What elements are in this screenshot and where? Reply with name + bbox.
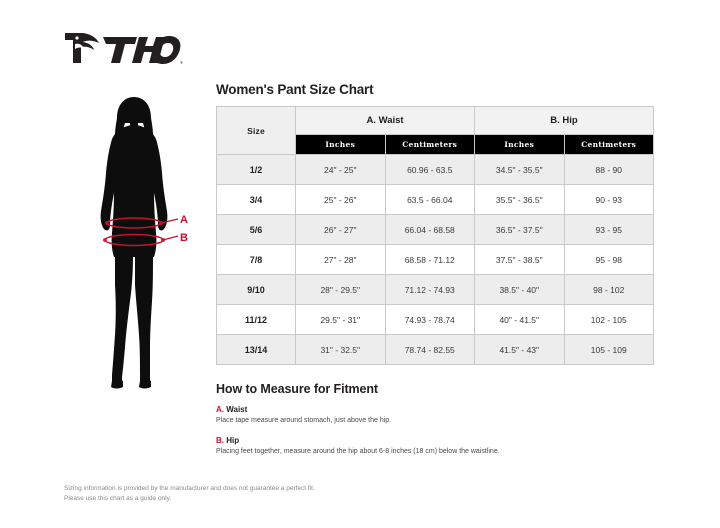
cell-hip-inches: 40" - 41.5" bbox=[475, 305, 565, 335]
cell-size: 13/14 bbox=[217, 335, 296, 365]
measure-instruction-waist: A. Waist Place tape measure around stoma… bbox=[216, 405, 654, 425]
cell-hip-inches: 34.5" - 35.5" bbox=[475, 155, 565, 185]
cell-size: 11/12 bbox=[217, 305, 296, 335]
measure-name-waist: Waist bbox=[226, 405, 247, 414]
table-row: 7/8 27" - 28" 68.58 - 71.12 37.5" - 38.5… bbox=[217, 245, 654, 275]
figure-label-b: B bbox=[180, 232, 188, 244]
cell-size: 1/2 bbox=[217, 155, 296, 185]
cell-hip-centimeters: 93 - 95 bbox=[564, 215, 654, 245]
measure-letter-a: A. bbox=[216, 405, 224, 414]
cell-waist-inches: 29.5" - 31" bbox=[296, 305, 386, 335]
table-header: Size A. Waist B. Hip Inches Centimeters … bbox=[217, 107, 654, 155]
column-group-waist: A. Waist bbox=[296, 107, 475, 135]
measure-description-hip: Placing feet together, measure around th… bbox=[216, 447, 654, 456]
svg-text:®: ® bbox=[180, 60, 183, 65]
measure-heading-waist: A. Waist bbox=[216, 405, 654, 414]
cell-hip-inches: 37.5" - 38.5" bbox=[475, 245, 565, 275]
cell-hip-centimeters: 95 - 98 bbox=[564, 245, 654, 275]
cell-waist-inches: 27" - 28" bbox=[296, 245, 386, 275]
disclaimer-line-2: Please use this chart as a guide only. bbox=[64, 494, 315, 504]
cell-waist-centimeters: 68.58 - 71.12 bbox=[385, 245, 475, 275]
table-row: 5/6 26" - 27" 66.04 - 68.58 36.5" - 37.5… bbox=[217, 215, 654, 245]
measure-letter-b: B. bbox=[216, 436, 224, 445]
cell-waist-inches: 24" - 25" bbox=[296, 155, 386, 185]
thor-logo: ® bbox=[63, 28, 183, 68]
measurement-figure: A B bbox=[70, 95, 200, 395]
cell-hip-centimeters: 90 - 93 bbox=[564, 185, 654, 215]
cell-hip-inches: 41.5" - 43" bbox=[475, 335, 565, 365]
cell-hip-centimeters: 98 - 102 bbox=[564, 275, 654, 305]
figure-label-a: A bbox=[180, 214, 188, 226]
table-row: 1/2 24" - 25" 60.96 - 63.5 34.5" - 35.5"… bbox=[217, 155, 654, 185]
cell-waist-inches: 28" - 29.5" bbox=[296, 275, 386, 305]
how-to-measure-title: How to Measure for Fitment bbox=[216, 382, 654, 396]
cell-waist-centimeters: 63.5 - 66.04 bbox=[385, 185, 475, 215]
measure-name-hip: Hip bbox=[226, 436, 239, 445]
column-header-size: Size bbox=[217, 107, 296, 155]
cell-hip-centimeters: 88 - 90 bbox=[564, 155, 654, 185]
cell-size: 7/8 bbox=[217, 245, 296, 275]
column-header-waist-centimeters: Centimeters bbox=[385, 135, 475, 155]
thor-helmet-icon bbox=[65, 33, 99, 63]
measure-heading-hip: B. Hip bbox=[216, 436, 654, 445]
thor-wordmark-icon bbox=[103, 36, 180, 64]
column-header-waist-inches: Inches bbox=[296, 135, 386, 155]
cell-waist-centimeters: 60.96 - 63.5 bbox=[385, 155, 475, 185]
size-chart-table: Size A. Waist B. Hip Inches Centimeters … bbox=[216, 106, 654, 365]
table-row: 3/4 25" - 26" 63.5 - 66.04 35.5" - 36.5"… bbox=[217, 185, 654, 215]
table-row: 13/14 31" - 32.5" 78.74 - 82.55 41.5" - … bbox=[217, 335, 654, 365]
cell-size: 3/4 bbox=[217, 185, 296, 215]
cell-waist-inches: 31" - 32.5" bbox=[296, 335, 386, 365]
cell-waist-centimeters: 71.12 - 74.93 bbox=[385, 275, 475, 305]
table-body: 1/2 24" - 25" 60.96 - 63.5 34.5" - 35.5"… bbox=[217, 155, 654, 365]
column-header-hip-inches: Inches bbox=[475, 135, 565, 155]
table-row: 9/10 28" - 29.5" 71.12 - 74.93 38.5" - 4… bbox=[217, 275, 654, 305]
cell-hip-inches: 35.5" - 36.5" bbox=[475, 185, 565, 215]
column-group-hip: B. Hip bbox=[475, 107, 654, 135]
cell-size: 5/6 bbox=[217, 215, 296, 245]
cell-waist-centimeters: 66.04 - 68.58 bbox=[385, 215, 475, 245]
cell-hip-centimeters: 105 - 109 bbox=[564, 335, 654, 365]
cell-size: 9/10 bbox=[217, 275, 296, 305]
cell-hip-centimeters: 102 - 105 bbox=[564, 305, 654, 335]
cell-hip-inches: 38.5" - 40" bbox=[475, 275, 565, 305]
disclaimer-line-1: Sizing information is provided by the ma… bbox=[64, 484, 315, 494]
cell-waist-inches: 25" - 26" bbox=[296, 185, 386, 215]
size-chart-content: Women's Pant Size Chart Size A. Waist B.… bbox=[216, 82, 654, 467]
table-row: 11/12 29.5" - 31" 74.93 - 78.74 40" - 41… bbox=[217, 305, 654, 335]
disclaimer: Sizing information is provided by the ma… bbox=[64, 484, 315, 504]
cell-hip-inches: 36.5" - 37.5" bbox=[475, 215, 565, 245]
page-title: Women's Pant Size Chart bbox=[216, 82, 654, 97]
table-header-row-groups: Size A. Waist B. Hip bbox=[217, 107, 654, 135]
cell-waist-centimeters: 78.74 - 82.55 bbox=[385, 335, 475, 365]
cell-waist-inches: 26" - 27" bbox=[296, 215, 386, 245]
column-header-hip-centimeters: Centimeters bbox=[564, 135, 654, 155]
measure-description-waist: Place tape measure around stomach, just … bbox=[216, 416, 654, 425]
measure-instruction-hip: B. Hip Placing feet together, measure ar… bbox=[216, 436, 654, 456]
cell-waist-centimeters: 74.93 - 78.74 bbox=[385, 305, 475, 335]
